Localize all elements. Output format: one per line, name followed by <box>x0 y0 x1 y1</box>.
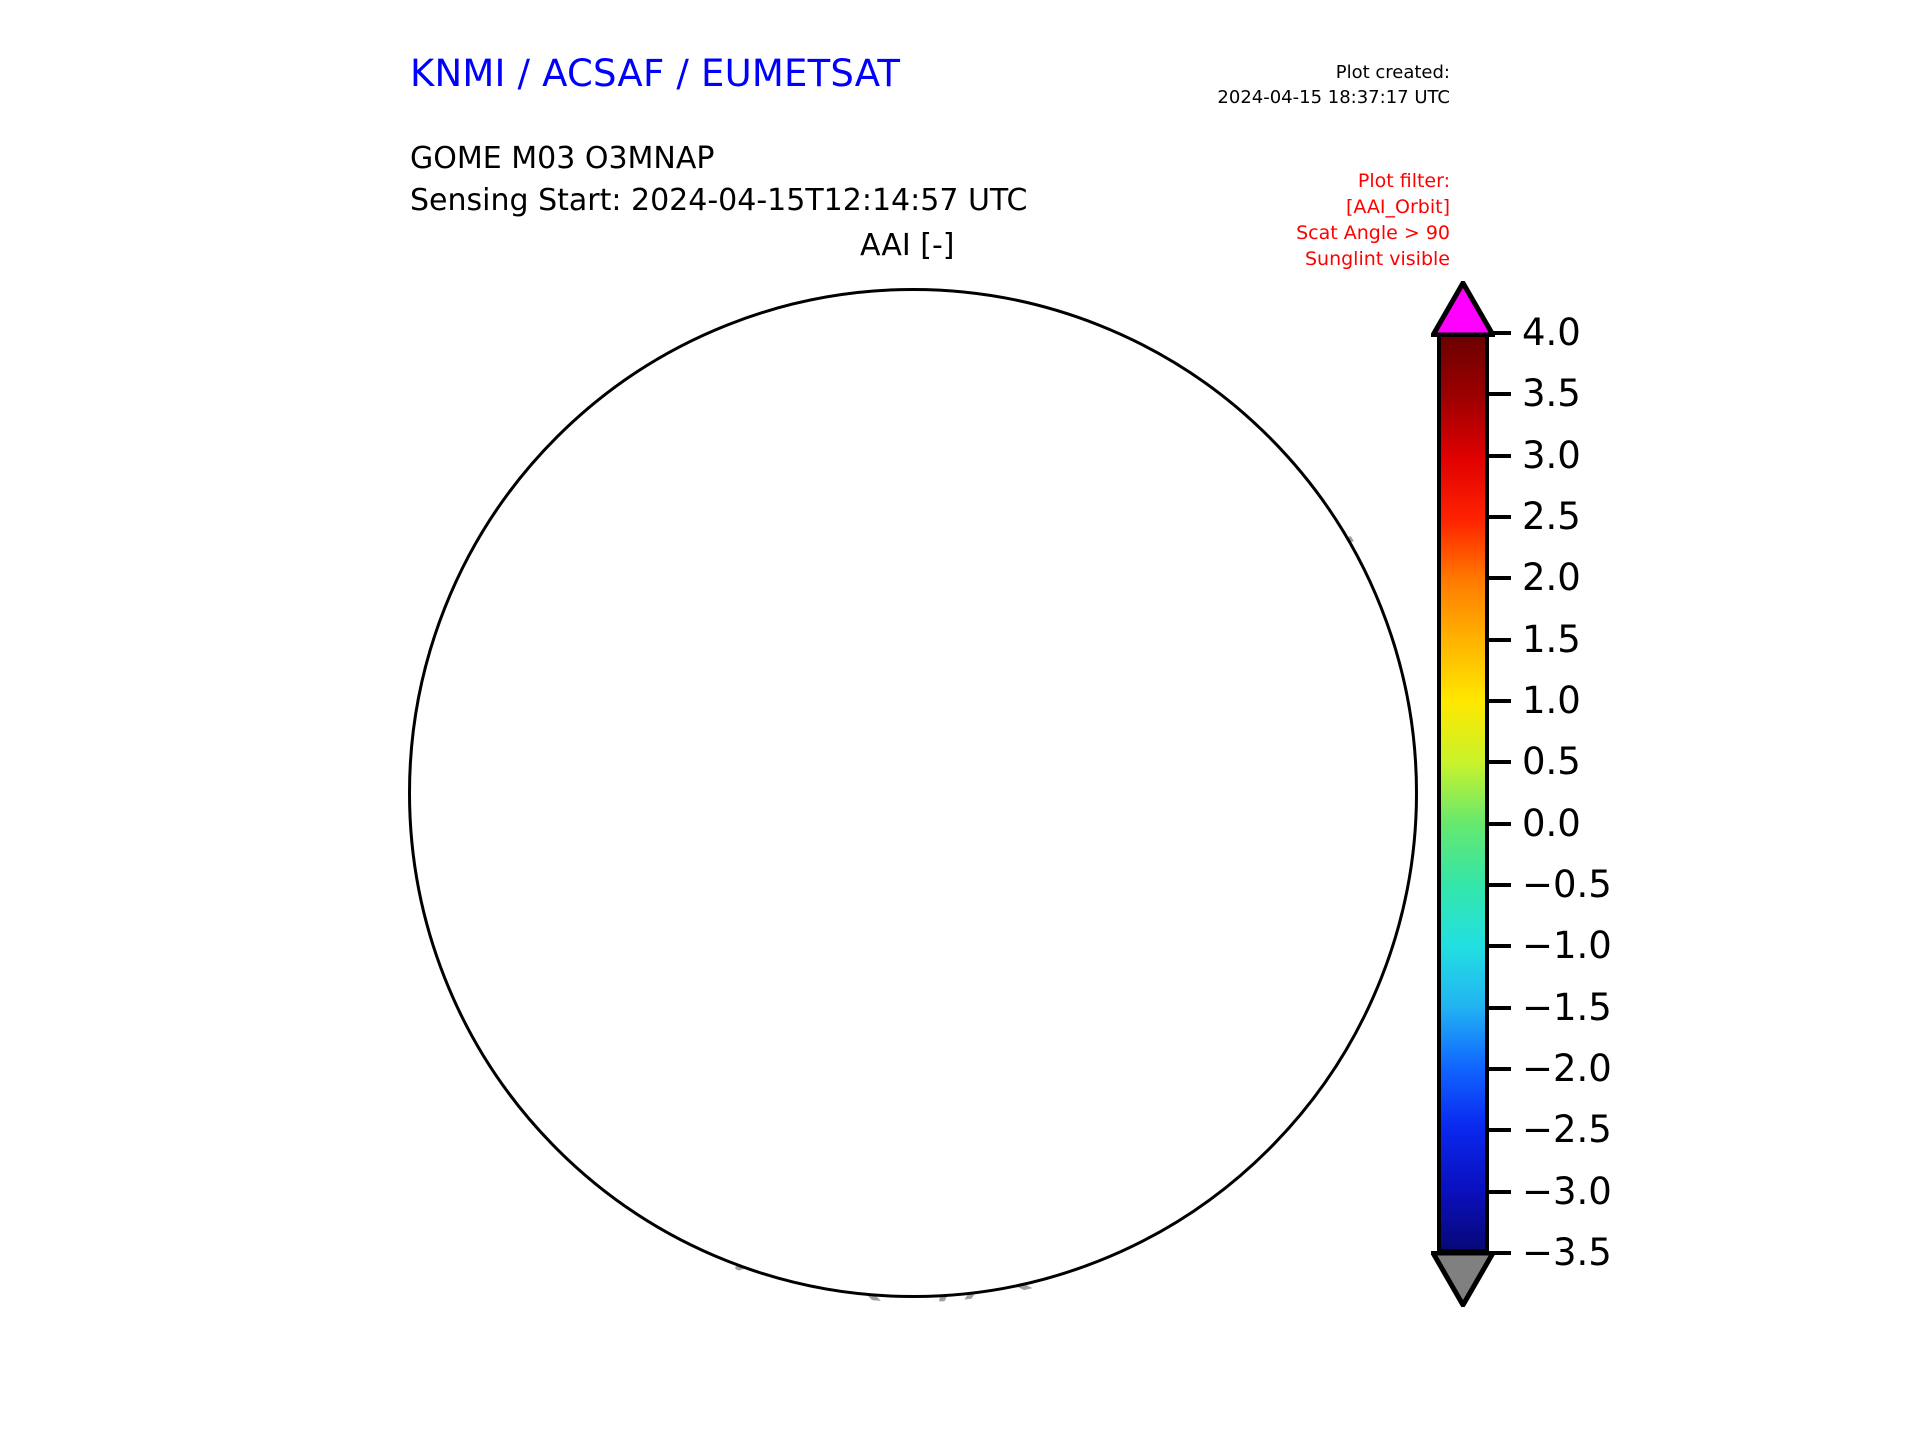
plot-filter-line-1: [AAI_Orbit] <box>1180 194 1450 220</box>
colorbar-tick <box>1489 576 1511 580</box>
colorbar-tick-label: −1.5 <box>1522 989 1612 1026</box>
colorbar-tick-label: −3.5 <box>1522 1234 1612 1271</box>
colorbar-tick <box>1489 760 1511 764</box>
colorbar-tick-label: 3.5 <box>1522 375 1581 412</box>
org-title: KNMI / ACSAF / EUMETSAT <box>410 52 900 95</box>
colorbar-tick <box>1489 883 1511 887</box>
plot-filter-line-3: Sunglint visible <box>1180 246 1450 272</box>
colorbar-tick-label: −0.5 <box>1522 866 1612 903</box>
colorbar-tick-label: 2.5 <box>1522 498 1581 535</box>
orthographic-map <box>408 288 1422 1302</box>
plot-created-timestamp: 2024-04-15 18:37:17 UTC <box>1160 85 1450 110</box>
colorbar-tick-label: 4.0 <box>1522 314 1581 351</box>
colorbar-tick <box>1489 1190 1511 1194</box>
colorbar-tick <box>1489 1006 1511 1010</box>
colorbar-tick <box>1489 1251 1511 1255</box>
plot-filter-line-2: Scat Angle > 90 <box>1180 220 1450 246</box>
colorbar-tick <box>1489 944 1511 948</box>
colorbar: 4.03.53.02.52.01.51.00.50.0−0.5−1.0−1.5−… <box>1430 280 1850 1310</box>
colorbar-tick-label: −2.5 <box>1522 1111 1612 1148</box>
globe-outline <box>408 288 1418 1298</box>
colorbar-tick <box>1489 822 1511 826</box>
plot-created-block: Plot created: 2024-04-15 18:37:17 UTC <box>1160 60 1450 110</box>
colorbar-tick-label: −1.0 <box>1522 927 1612 964</box>
colorbar-tick-label: 3.0 <box>1522 437 1581 474</box>
quantity-label: AAI [-] <box>860 228 955 263</box>
colorbar-tick <box>1489 515 1511 519</box>
colorbar-tick <box>1489 454 1511 458</box>
colorbar-tick-label: 2.0 <box>1522 559 1581 596</box>
product-name: GOME M03 O3MNAP <box>410 138 1027 180</box>
sensing-start: Sensing Start: 2024-04-15T12:14:57 UTC <box>410 180 1027 222</box>
plot-filter-title: Plot filter: <box>1180 168 1450 194</box>
colorbar-tick <box>1489 1067 1511 1071</box>
colorbar-under-arrow-icon <box>1431 1251 1495 1307</box>
colorbar-tick <box>1489 331 1511 335</box>
colorbar-over-arrow-icon <box>1431 281 1495 337</box>
plot-filter-block: Plot filter: [AAI_Orbit] Scat Angle > 90… <box>1180 168 1450 272</box>
colorbar-tick-label: 1.5 <box>1522 621 1581 658</box>
plot-created-label: Plot created: <box>1160 60 1450 85</box>
colorbar-tick <box>1489 638 1511 642</box>
colorbar-tick <box>1489 1128 1511 1132</box>
colorbar-tick-label: 0.5 <box>1522 743 1581 780</box>
colorbar-tick-label: −2.0 <box>1522 1050 1612 1087</box>
colorbar-tick <box>1489 392 1511 396</box>
colorbar-tick <box>1489 699 1511 703</box>
colorbar-tick-label: 0.0 <box>1522 805 1581 842</box>
product-info-block: GOME M03 O3MNAP Sensing Start: 2024-04-1… <box>410 138 1027 222</box>
colorbar-tick-label: −3.0 <box>1522 1173 1612 1210</box>
colorbar-tick-label: 1.0 <box>1522 682 1581 719</box>
colorbar-gradient <box>1437 333 1489 1253</box>
